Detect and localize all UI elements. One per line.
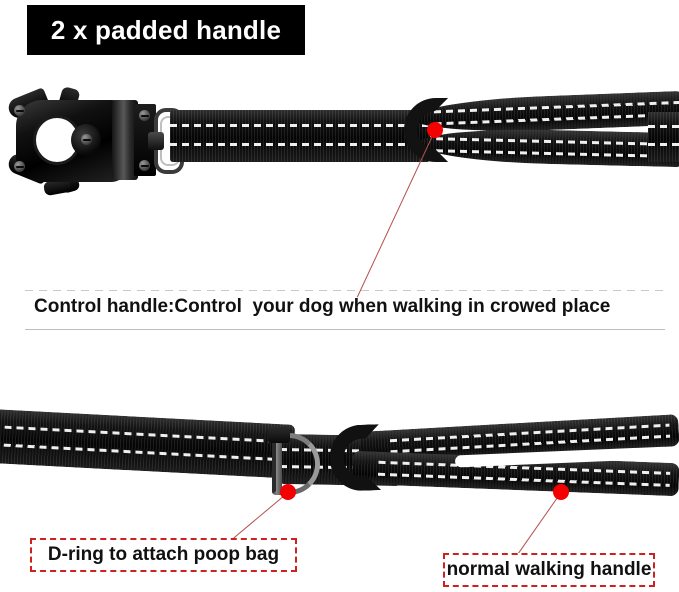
reflective-stitch-line [4,444,288,462]
reflective-stitch-line [170,143,430,146]
caption-control-handle: Control handle:Control your dog when wal… [25,290,665,330]
reflective-stitch-line [436,137,679,146]
clasp-screw-icon [14,105,25,116]
swivel-nut [148,132,164,150]
webbing-right-tail [648,112,679,162]
title-banner-label: 2 x padded handle [51,15,281,46]
reflective-stitch-line [436,149,679,158]
caption-top-dashed-rule [25,290,665,291]
infographic-page: 2 x padded handle [0,0,679,592]
metal-frog-clasp-icon [8,88,158,194]
annotation-dot-control-handle [427,122,443,138]
nylon-webbing-strap-left [0,409,295,479]
reflective-stitch-line [434,113,679,126]
caption-box-walking-handle: normal walking handle [443,553,655,587]
nylon-webbing-strap [170,110,430,162]
reflective-stitch-line [5,426,289,444]
caption-control-handle-text: Control handle:Control your dog when wal… [34,296,610,318]
caption-bottom-rule [25,329,665,330]
padded-handle-lower-strap [418,127,679,167]
reflective-stitch-line [170,124,430,127]
caption-box-d-ring: D-ring to attach poop bag [30,538,297,572]
reflective-stitch-line [378,473,670,487]
clasp-screw-icon [81,134,92,145]
product-photo-bottom [0,395,679,510]
caption-walking-handle-text: normal walking handle [447,559,652,581]
reflective-stitch-line [648,125,679,128]
padded-handle-upper-strap [411,91,679,135]
title-banner: 2 x padded handle [27,5,305,55]
annotation-dot-walking-handle [553,484,569,500]
clasp-screw-icon [139,160,150,171]
annotation-dot-d-ring [280,484,296,500]
caption-d-ring-text: D-ring to attach poop bag [48,544,279,566]
product-photo-top [0,82,679,200]
reflective-stitch-line [434,101,679,114]
clasp-screw-icon [14,161,25,172]
d-ring-keeper [268,427,290,443]
reflective-stitch-line [648,143,679,146]
clasp-screw-icon [139,110,150,121]
